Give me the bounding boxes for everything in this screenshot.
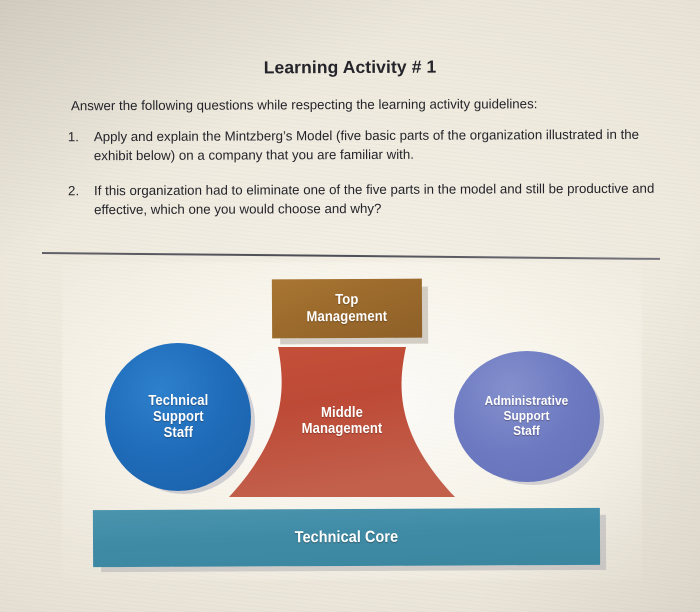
instructions-line: Answer the following questions while res… [71,95,641,115]
question-text-2: If this organization had to eliminate on… [94,180,654,216]
question-number-2: 2. [68,182,79,201]
question-item-1: 1. Apply and explain the Mintzberg’s Mod… [68,126,658,166]
document-text-layer: Learning Activity # 1 Answer the followi… [0,0,700,612]
question-item-2: 2. If this organization had to eliminate… [68,179,658,219]
question-text-1: Apply and explain the Mintzberg’s Model … [94,127,639,163]
page-title: Learning Activity # 1 [0,55,700,79]
photographed-document-page: Learning Activity # 1 Answer the followi… [0,0,700,612]
question-list: 1. Apply and explain the Mintzberg’s Mod… [68,126,658,236]
question-number-1: 1. [68,128,79,147]
horizontal-divider [42,252,660,260]
